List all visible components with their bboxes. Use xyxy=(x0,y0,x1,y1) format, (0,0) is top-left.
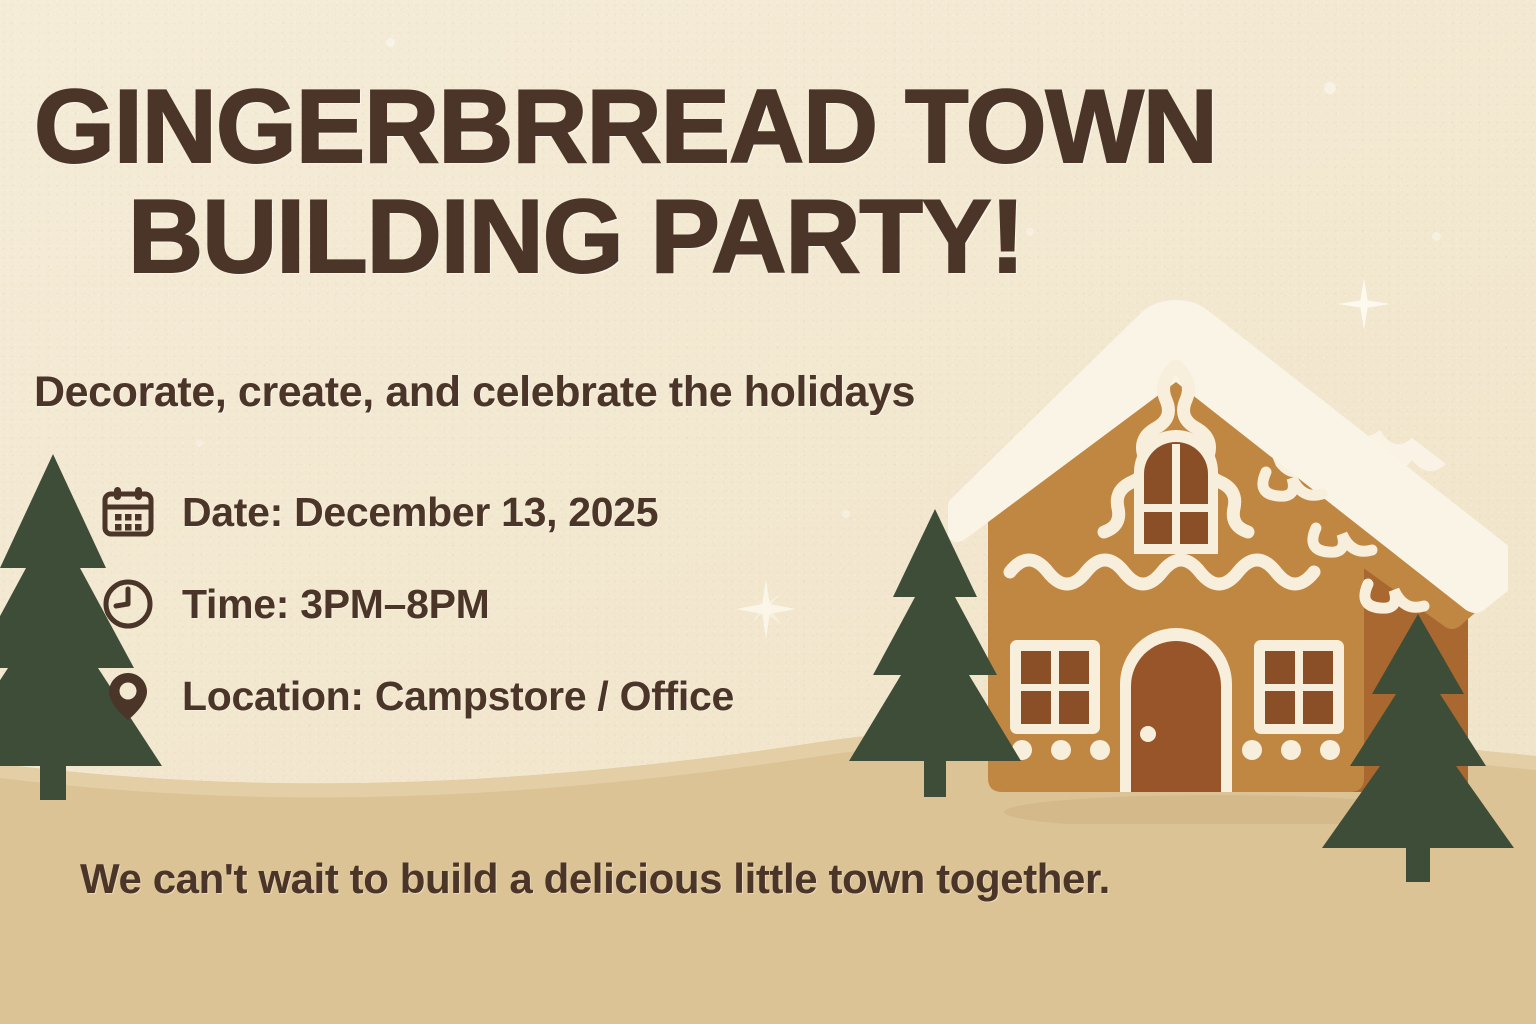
poster-title-line-2: BUILDING PARTY! xyxy=(30,188,1290,288)
roof-snow-scallop xyxy=(1248,398,1446,477)
arched-attic-window xyxy=(1134,430,1218,554)
detail-row-date: Date: December 13, 2025 xyxy=(100,466,734,558)
headline-block: GINGERBRREAD TOWN BUILDING PARTY! xyxy=(30,78,1290,288)
detail-row-location: Location: Campstore / Office xyxy=(100,650,734,742)
clock-icon xyxy=(100,576,156,632)
event-details-list: Date: December 13, 2025 Time: 3PM–8PM Lo… xyxy=(100,466,734,742)
poster-canvas: GINGERBRREAD TOWN BUILDING PARTY! Decora… xyxy=(0,0,1536,1024)
snow-dot xyxy=(386,38,395,47)
pine-tree-middle xyxy=(845,505,1025,797)
pine-tree-right xyxy=(1318,610,1518,882)
detail-row-time: Time: 3PM–8PM xyxy=(100,558,734,650)
snow-dot xyxy=(196,440,203,447)
map-pin-icon xyxy=(100,668,156,724)
detail-text-location: Location: Campstore / Office xyxy=(182,673,734,720)
sparkle-star-left-icon xyxy=(735,578,797,640)
snow-dot xyxy=(1324,82,1336,94)
detail-text-date: Date: December 13, 2025 xyxy=(182,489,658,536)
detail-text-time: Time: 3PM–8PM xyxy=(182,581,490,628)
door-knob xyxy=(1140,726,1156,742)
poster-title-line-1: GINGERBRREAD TOWN xyxy=(30,78,1290,178)
calendar-icon xyxy=(100,484,156,540)
snow-dot xyxy=(1432,232,1441,241)
arched-front-door xyxy=(1120,628,1232,792)
poster-subtitle: Decorate, create, and celebrate the holi… xyxy=(34,368,915,417)
poster-closing-line: We can't wait to build a delicious littl… xyxy=(80,855,1110,903)
